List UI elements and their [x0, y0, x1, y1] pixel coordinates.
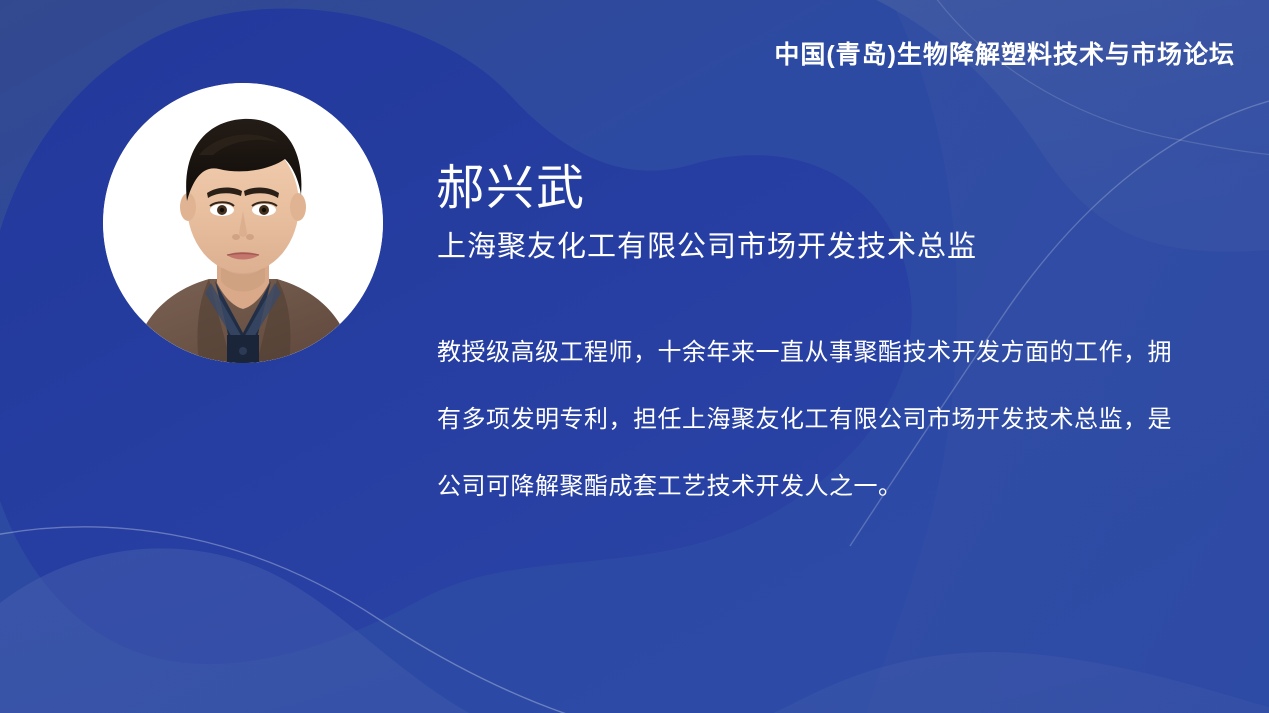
- biography-line: 公司可降解聚酯成套工艺技术开发人之一。: [437, 453, 1177, 520]
- speaker-portrait: [103, 83, 383, 363]
- speaker-biography: 教授级高级工程师，十余年来一直从事聚酯技术开发方面的工作，拥 有多项发明专利，担…: [437, 319, 1177, 520]
- speaker-portrait-image: [103, 83, 383, 363]
- biography-line: 有多项发明专利，担任上海聚友化工有限公司市场开发技术总监，是: [437, 386, 1177, 453]
- speaker-name: 郝兴武: [436, 161, 586, 217]
- biography-line: 教授级高级工程师，十余年来一直从事聚酯技术开发方面的工作，拥: [437, 319, 1177, 386]
- speaker-intro-slide: 中国(青岛)生物降解塑料技术与市场论坛 郝兴武 上海聚友化工有限公司市场开发技术…: [0, 0, 1269, 713]
- speaker-role: 上海聚友化工有限公司市场开发技术总监: [437, 228, 977, 266]
- forum-title: 中国(青岛)生物降解塑料技术与市场论坛: [774, 40, 1235, 70]
